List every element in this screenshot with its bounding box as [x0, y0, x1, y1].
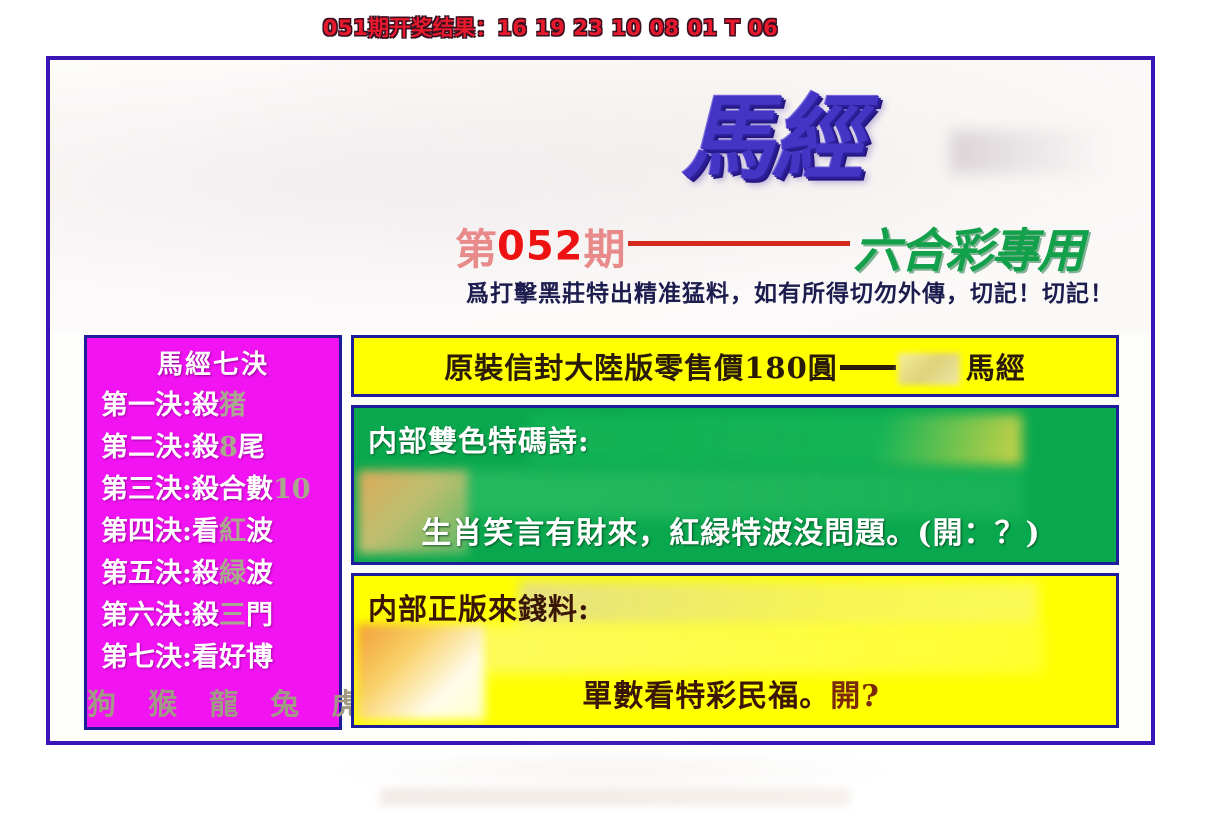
- decision-highlight-6: 三: [219, 600, 246, 631]
- issue-suffix: 期: [584, 225, 626, 274]
- brand-title: 六合彩專用: [854, 224, 1084, 279]
- magazine-logo: 馬經: [682, 92, 862, 184]
- logo-smudge-artifact: [950, 130, 1100, 174]
- dual-color-poem-text: 生肖笑言有財來，紅緑特波没問題。(開：？): [354, 508, 1108, 552]
- decision-tail-4: 波: [246, 516, 273, 547]
- dual-color-poem-label: 内部雙色特碼詩:: [368, 418, 590, 460]
- decision-label-1: 第一決:殺: [101, 390, 219, 421]
- decision-row-3: 第三決:殺合數10: [87, 469, 339, 511]
- decision-tail-6: 門: [246, 600, 273, 631]
- decision-highlight-5: 緑: [219, 558, 246, 589]
- decision-highlight-3: 10: [273, 474, 311, 505]
- decision-row-5: 第五決:殺緑波: [87, 553, 339, 595]
- decision-row-1: 第一決:殺猪: [87, 385, 339, 427]
- page-root: 051期开奖结果：16 19 23 10 08 01 T 06 馬經 第052期…: [0, 0, 1208, 828]
- seven-decisions-title: 馬經七決: [87, 344, 339, 381]
- price-text-before: 原裝信封大陸版零售價180圓: [444, 351, 838, 385]
- decision-row-2: 第二決:殺8尾: [87, 427, 339, 469]
- issue-divider-rule: [628, 241, 850, 246]
- money-tip-panel: 内部正版來錢料: 單數看特彩民福。開?: [351, 573, 1119, 728]
- logo-block: 馬經: [682, 92, 1102, 207]
- issue-number: 052: [497, 224, 584, 270]
- decision-label-4: 第四決:看: [101, 516, 219, 547]
- green-ghost-top-artifact: [530, 414, 1022, 466]
- money-tip-text: 單數看特彩民福。開?: [354, 671, 1108, 715]
- decision-highlight-2: 8: [219, 432, 238, 463]
- decision-row-7: 第七決:看好博: [87, 637, 339, 679]
- dual-color-poem-panel: 内部雙色特碼詩: 生肖笑言有財來，紅緑特波没問題。(開：？): [351, 405, 1119, 565]
- content-region: 馬經七決 第一決:殺猪 第二決:殺8尾 第三決:殺合數10 第四決:看紅波 第五…: [84, 335, 1119, 730]
- bottom-ghost-strip: [380, 788, 850, 806]
- money-tip-label: 内部正版來錢料:: [368, 586, 590, 628]
- decision-label-7: 第七決:看好博: [101, 642, 273, 673]
- zodiac-row: 狗 猴 龍 兔 虎: [87, 681, 339, 723]
- decision-label-3: 第三決:殺合數: [101, 474, 273, 505]
- price-divider-rule: [840, 365, 896, 370]
- decision-label-6: 第六決:殺: [101, 600, 219, 631]
- price-blurred-block: [898, 353, 960, 385]
- tagline-text: 爲打擊黑莊特出精准猛料，如有所得切勿外傳，切記！切記！: [455, 274, 1125, 308]
- price-bar-text: 原裝信封大陸版零售價180圓馬經: [444, 345, 1026, 387]
- money-tip-main: 單數看特彩民福。: [582, 679, 830, 714]
- draw-result-text: 051期开奖结果：16 19 23 10 08 01 T 06: [0, 12, 1101, 42]
- decision-tail-2: 尾: [238, 432, 265, 463]
- yellow-ghost-mid-artifact: [484, 624, 1044, 674]
- seven-decisions-panel: 馬經七決 第一決:殺猪 第二決:殺8尾 第三決:殺合數10 第四決:看紅波 第五…: [84, 335, 342, 730]
- decision-label-5: 第五決:殺: [101, 558, 219, 589]
- issue-prefix: 第: [455, 225, 497, 274]
- decision-label-2: 第二決:殺: [101, 432, 219, 463]
- yellow-ghost-top-artifact: [519, 581, 1039, 625]
- decision-row-4: 第四決:看紅波: [87, 511, 339, 553]
- decision-tail-5: 波: [246, 558, 273, 589]
- price-bar-panel: 原裝信封大陸版零售價180圓馬經: [351, 335, 1119, 397]
- decision-highlight-1: 猪: [219, 390, 246, 421]
- issue-row: 第052期六合彩專用: [455, 212, 1115, 270]
- money-tip-kai: 開?: [830, 679, 880, 714]
- bottom-ghost-glow: [330, 748, 890, 792]
- price-text-after: 馬經: [966, 351, 1026, 385]
- decision-row-6: 第六決:殺三門: [87, 595, 339, 637]
- right-column: 原裝信封大陸版零售價180圓馬經 内部雙色特碼詩: 生肖笑言有財來，紅緑特波没問…: [351, 335, 1119, 730]
- decision-highlight-4: 紅: [219, 516, 246, 547]
